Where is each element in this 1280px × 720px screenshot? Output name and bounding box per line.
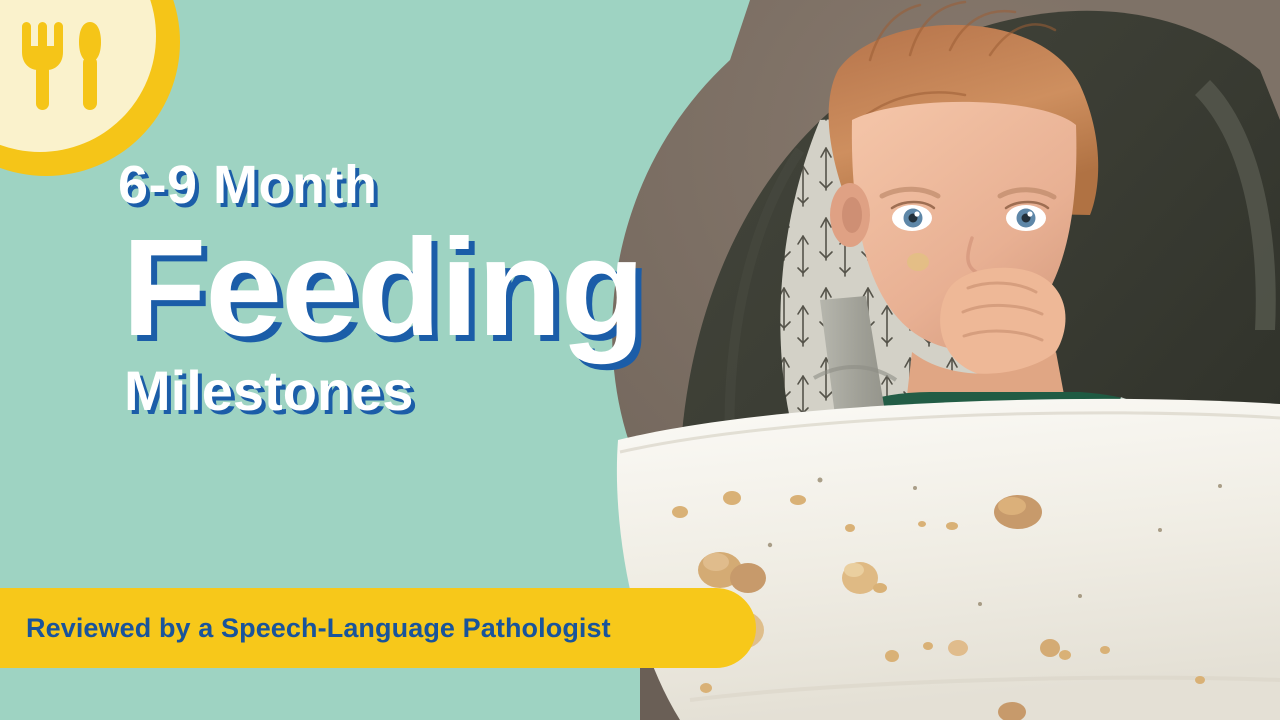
reviewed-by-text: Reviewed by a Speech-Language Pathologis…	[26, 613, 611, 644]
page-title: Feeding	[122, 219, 644, 357]
fork-and-knife-icon	[16, 20, 108, 112]
age-range-text: 6-9 Month	[118, 158, 644, 213]
page-subtitle: Milestones	[124, 363, 644, 419]
headline-block: 6-9 Month Feeding Milestones	[118, 158, 644, 419]
poster-canvas: 6-9 Month Feeding Milestones Reviewed by…	[0, 0, 1280, 720]
reviewed-by-banner: Reviewed by a Speech-Language Pathologis…	[0, 588, 756, 668]
feeding-badge	[0, 0, 180, 176]
